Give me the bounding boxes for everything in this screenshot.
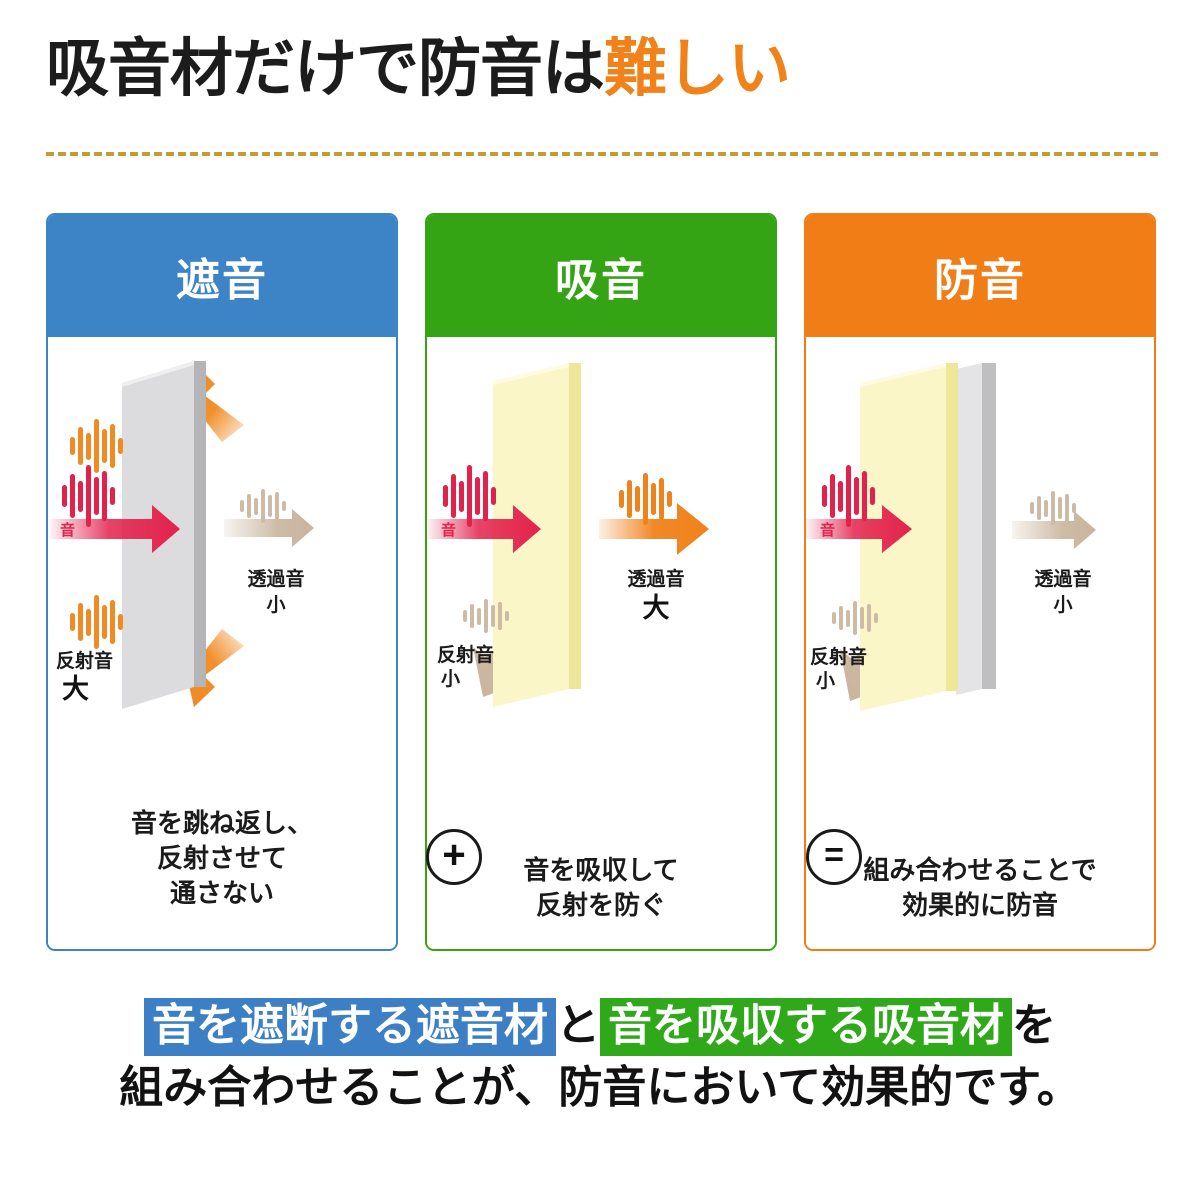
card-shaon-body: 音 透過音 小 反射音 大 音を跳ね返し、 反射させて 通さない (48, 337, 396, 949)
reflect-label: 反射音 (437, 645, 494, 666)
reflected-sound-wave (832, 601, 878, 635)
card-bouon-header: 防音 (806, 215, 1154, 337)
reflect-amount: 小 (441, 669, 460, 690)
summary-line-1: 音を遮断する遮音材と音を吸収する吸音材を (0, 995, 1200, 1057)
transmit-label: 透過音 (609, 569, 703, 590)
bouon-diagram (806, 337, 1154, 737)
incoming-sound-label: 音 (820, 523, 835, 540)
caption-line: 反射を防ぐ (427, 888, 775, 923)
insulation-back-slab (956, 363, 996, 695)
page-title-accent: 難しい (604, 34, 790, 104)
transmit-amount: 小 (1020, 595, 1106, 616)
comparison-cards: 遮音 (46, 213, 1156, 953)
transmit-amount: 大 (609, 593, 703, 623)
plus-operator-icon: + (426, 829, 482, 885)
incoming-sound-wave (62, 465, 115, 527)
summary-block: 音を遮断する遮音材と音を吸収する吸音材を 組み合わせることが、防音において効果的… (0, 995, 1200, 1120)
reflect-label: 反射音 (56, 651, 113, 672)
card-shaon-caption: 音を跳ね返し、 反射させて 通さない (48, 806, 396, 911)
transmitted-sound-wave (1030, 491, 1076, 525)
reflected-down-wave (70, 595, 123, 649)
reflect-amount: 小 (816, 671, 835, 692)
shaon-diagram (48, 337, 396, 737)
summary-conjunction: と (556, 1001, 600, 1050)
equals-operator-icon: = (806, 829, 862, 885)
card-kyuon-header: 吸音 (427, 215, 775, 337)
summary-particle: を (1012, 1001, 1056, 1050)
transmitted-sound-wave (240, 489, 286, 523)
reflected-sound-wave (463, 599, 509, 633)
caption-line: 効果的に防音 (806, 888, 1154, 923)
caption-line: 通さない (48, 876, 396, 911)
incoming-sound-label: 音 (60, 523, 75, 540)
summary-highlight-blue: 音を遮断する遮音材 (144, 998, 556, 1056)
transmit-label: 透過音 (234, 569, 318, 590)
reflect-label: 反射音 (810, 647, 867, 668)
page-title: 吸音材だけで防音は難しい (46, 38, 1156, 101)
caption-line: 音を跳ね返し、 (48, 806, 396, 841)
incoming-sound-wave (443, 465, 496, 527)
caption-line: 反射させて (48, 841, 396, 876)
transmit-label: 透過音 (1020, 569, 1106, 590)
page-title-plain: 吸音材だけで防音は (46, 34, 604, 104)
title-block: 吸音材だけで防音は難しい (46, 38, 1156, 101)
card-shaon-header: 遮音 (48, 215, 396, 337)
incoming-sound-wave (822, 465, 875, 527)
card-kyuon[interactable]: 吸音 (425, 213, 777, 951)
transmit-amount: 小 (234, 595, 318, 616)
kyuon-diagram (427, 337, 775, 737)
incoming-sound-label: 音 (441, 523, 456, 540)
reflect-amount: 大 (62, 674, 89, 704)
card-shaon[interactable]: 遮音 (46, 213, 398, 951)
summary-highlight-green: 音を吸収する吸音材 (600, 998, 1012, 1056)
title-divider (46, 152, 1158, 156)
summary-line-2: 組み合わせることが、防音において効果的です。 (0, 1057, 1200, 1119)
transmitted-sound-wave (619, 473, 672, 525)
